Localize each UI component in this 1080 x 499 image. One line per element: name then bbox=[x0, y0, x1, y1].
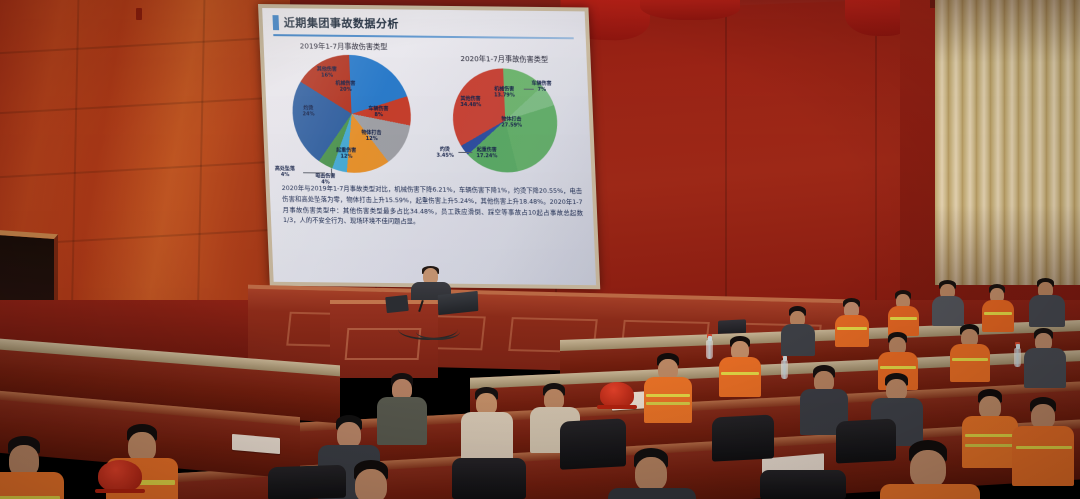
chart-title-2020: 2020年1-7月事故伤害类型 bbox=[460, 54, 548, 65]
chair-back bbox=[712, 414, 774, 461]
pie-slice-label-wuti-2019: 物体打击12% bbox=[361, 130, 382, 143]
chair-back bbox=[836, 418, 896, 463]
pie-slice-label-qizhong-2020: 起重伤害17.24% bbox=[476, 147, 497, 160]
presentation-slide: 近期集团事故数据分析 2019年1-7月事故伤害类型 2020年1-7月事故伤害… bbox=[262, 8, 596, 285]
pie-slice-label-wuti-2020: 物体打击27.59% bbox=[501, 116, 522, 129]
pie-slice-label-qizhong-2019: 起重伤害12% bbox=[336, 148, 357, 161]
chair-back bbox=[452, 458, 526, 499]
conference-room-photo: 近期集团事故数据分析 2019年1-7月事故伤害类型 2020年1-7月事故伤害… bbox=[0, 0, 1080, 499]
laptop-computer bbox=[438, 291, 479, 315]
pie-slice-label-cheliang-2020: 车辆伤害7% bbox=[531, 81, 552, 94]
pie-slice-label-cheliang-2019: 车辆伤害8% bbox=[368, 106, 389, 119]
slide-title: 近期集团事故数据分析 bbox=[283, 14, 399, 31]
pie-slice-label-jixie-2020: 机械伤害13.79% bbox=[494, 86, 515, 99]
pie-slice-label-qita-2020: 其他伤害34.48% bbox=[460, 96, 481, 109]
pie-slice-label-jixie-2019: 机械伤害20% bbox=[335, 81, 356, 94]
cable bbox=[416, 324, 460, 340]
title-underline bbox=[273, 34, 573, 39]
slide-title-row: 近期集团事故数据分析 bbox=[272, 14, 399, 31]
slide-body-text: 2020年与2019年1-7月事故类型对比，机械伤害下降6.21%，车辆伤害下降… bbox=[282, 184, 584, 230]
wall-fixture bbox=[136, 8, 142, 20]
pie-leader-line bbox=[458, 152, 472, 153]
pie-leader-line bbox=[331, 169, 332, 176]
chair-back bbox=[560, 418, 626, 469]
curtain-shading bbox=[935, 0, 1080, 285]
pie-slice-label-zhuotang-2019: 灼烫24% bbox=[302, 105, 315, 118]
title-accent-bar bbox=[272, 15, 279, 30]
water-bottle bbox=[706, 340, 713, 359]
pie-slice-label-zhuotang-2020: 灼烫3.45% bbox=[436, 147, 454, 160]
monitor-screen bbox=[385, 295, 409, 313]
water-bottle bbox=[1014, 348, 1021, 367]
chart-title-2019: 2019年1-7月事故伤害类型 bbox=[300, 41, 388, 52]
projection-screen: 近期集团事故数据分析 2019年1-7月事故伤害类型 2020年1-7月事故伤害… bbox=[258, 4, 600, 292]
chair-back bbox=[268, 465, 346, 499]
pie-slice-label-qita-2019: 其他伤害16% bbox=[317, 67, 338, 80]
safety-helmet bbox=[600, 382, 634, 408]
safety-helmet bbox=[98, 460, 142, 492]
pie-leader-line bbox=[303, 172, 325, 173]
pie-leader-line bbox=[524, 89, 534, 90]
chair-back bbox=[760, 470, 846, 499]
pie-slice-label-gaochu-2019: 高处坠落4% bbox=[275, 166, 296, 179]
water-bottle bbox=[781, 360, 788, 379]
